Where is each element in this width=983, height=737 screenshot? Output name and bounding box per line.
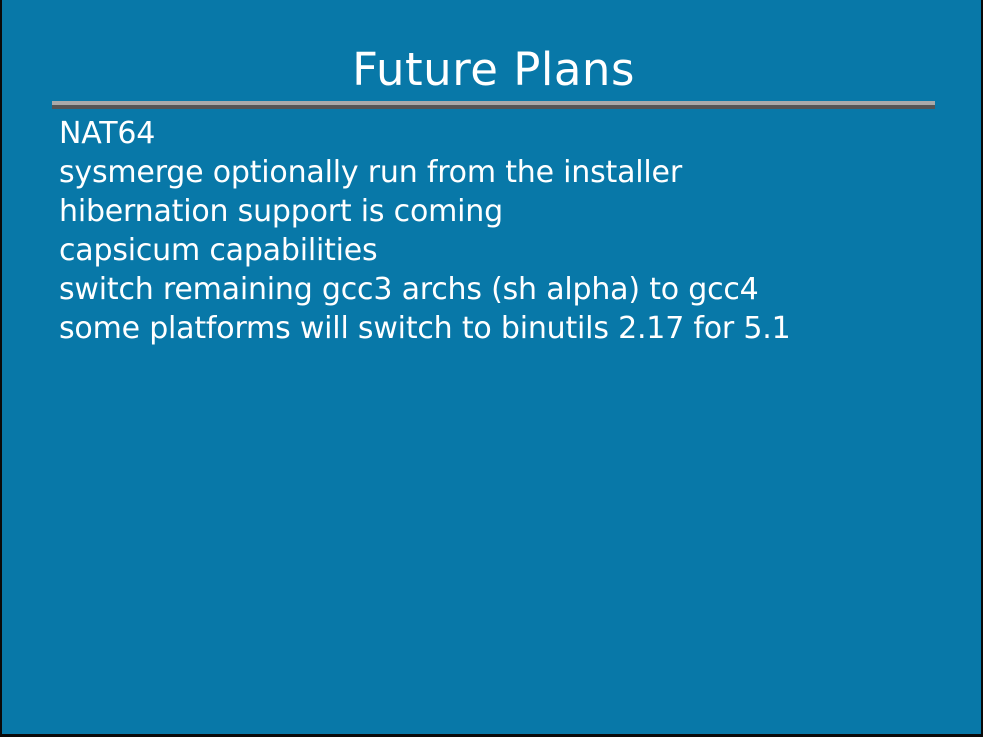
list-item: some platforms will switch to binutils 2… bbox=[59, 309, 959, 348]
list-item: hibernation support is coming bbox=[59, 192, 959, 231]
list-item: capsicum capabilities bbox=[59, 231, 959, 270]
title-divider-shadow bbox=[52, 105, 935, 109]
presentation-slide: Future Plans NAT64 sysmerge optionally r… bbox=[0, 0, 983, 737]
list-item: sysmerge optionally run from the install… bbox=[59, 153, 959, 192]
title-divider bbox=[52, 101, 935, 109]
bullet-list: NAT64 sysmerge optionally run from the i… bbox=[59, 114, 959, 348]
list-item: NAT64 bbox=[59, 114, 959, 153]
list-item: switch remaining gcc3 archs (sh alpha) t… bbox=[59, 270, 959, 309]
page-title: Future Plans bbox=[2, 47, 983, 92]
